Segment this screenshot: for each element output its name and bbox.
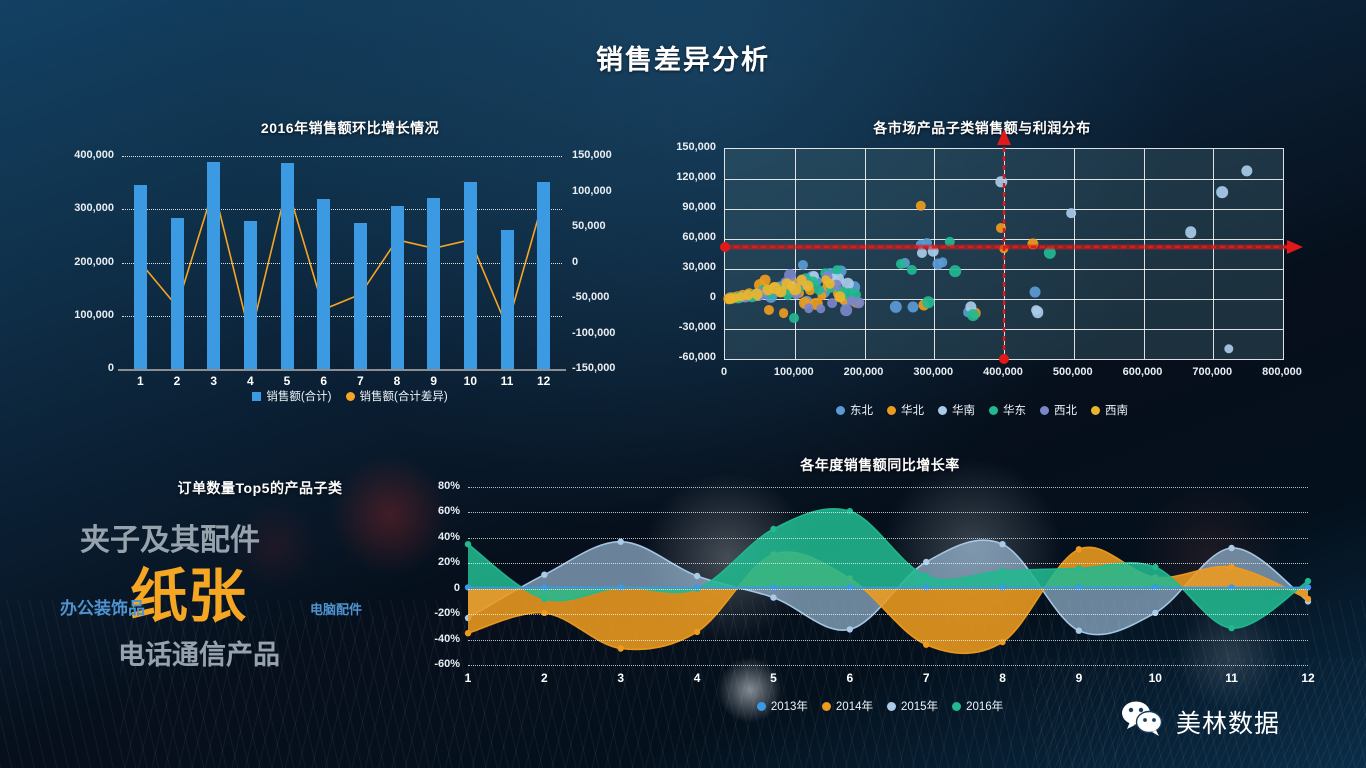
legend-swatch bbox=[887, 702, 896, 711]
wordcloud-word[interactable]: 纸张 bbox=[130, 568, 246, 626]
watermark: 美林数据 bbox=[1120, 700, 1280, 743]
bar-y-left-tick: 400,000 bbox=[60, 149, 114, 161]
bar-y-right-tick: -150,000 bbox=[572, 362, 615, 374]
bar-column[interactable] bbox=[464, 182, 477, 369]
legend-label: 销售额(合计差异) bbox=[360, 388, 448, 404]
bar-y-right-tick: 150,000 bbox=[572, 149, 612, 161]
legend-item[interactable]: 2013年 bbox=[757, 698, 808, 714]
legend-swatch bbox=[822, 702, 831, 711]
scatter-x-tick: 300,000 bbox=[906, 366, 960, 378]
gridline bbox=[468, 640, 1308, 641]
area-x-tick: 7 bbox=[911, 671, 941, 685]
area-y-tick: -20% bbox=[420, 607, 460, 619]
scatter-y-tick: -60,000 bbox=[662, 351, 716, 363]
gridline bbox=[468, 614, 1308, 615]
chart-panel-wordcloud: 订单数量Top5的产品子类 纸张夹子及其配件电话通信产品办公装饰品电脑配件 bbox=[60, 460, 460, 700]
legend-label: 2015年 bbox=[901, 698, 938, 714]
legend-label: 西南 bbox=[1105, 402, 1128, 418]
area-y-tick: 0 bbox=[420, 582, 460, 594]
scatter-y-tick: -30,000 bbox=[662, 321, 716, 333]
bar-x-tick: 4 bbox=[235, 374, 265, 388]
bar-column[interactable] bbox=[537, 182, 550, 369]
bar-y-right-tick: 100,000 bbox=[572, 185, 612, 197]
legend-swatch bbox=[989, 406, 998, 415]
area-x-tick: 8 bbox=[988, 671, 1018, 685]
area-y-tick: 60% bbox=[420, 505, 460, 517]
scatter-y-tick: 120,000 bbox=[662, 171, 716, 183]
area-x-tick: 6 bbox=[835, 671, 865, 685]
legend-item[interactable]: 华东 bbox=[989, 402, 1026, 418]
area-y-tick: -40% bbox=[420, 633, 460, 645]
gridline bbox=[468, 538, 1308, 539]
legend-label: 华北 bbox=[901, 402, 924, 418]
scatter-x-tick: 500,000 bbox=[1046, 366, 1100, 378]
bar-x-tick: 6 bbox=[309, 374, 339, 388]
bar-column[interactable] bbox=[354, 223, 367, 369]
chart-panel-bar: 2016年销售额环比增长情况 123456789101112 销售额(合计)销售… bbox=[60, 118, 640, 418]
bar-column[interactable] bbox=[207, 162, 220, 369]
legend-swatch bbox=[938, 406, 947, 415]
scatter-x-tick: 100,000 bbox=[767, 366, 821, 378]
legend-swatch bbox=[952, 702, 961, 711]
legend-swatch bbox=[757, 702, 766, 711]
legend-item[interactable]: 西北 bbox=[1040, 402, 1077, 418]
legend-item[interactable]: 销售额(合计) bbox=[252, 388, 331, 404]
chart-panel-area: 各年度销售额同比增长率 123456789101112 2013年2014年20… bbox=[420, 455, 1340, 720]
legend-swatch bbox=[1040, 406, 1049, 415]
area-y-tick: 80% bbox=[420, 480, 460, 492]
area-x-tick: 9 bbox=[1064, 671, 1094, 685]
bar-chart-title: 2016年销售额环比增长情况 bbox=[60, 118, 640, 138]
legend-label: 销售额(合计) bbox=[266, 388, 331, 404]
legend-item[interactable]: 西南 bbox=[1091, 402, 1128, 418]
gridline bbox=[122, 156, 562, 157]
bar-y-right-tick: -50,000 bbox=[572, 291, 609, 303]
gridline bbox=[468, 589, 1308, 590]
scatter-x-tick: 200,000 bbox=[837, 366, 891, 378]
scatter-reference-lines bbox=[725, 149, 1283, 359]
area-x-tick: 3 bbox=[606, 671, 636, 685]
scatter-x-tick: 700,000 bbox=[1185, 366, 1239, 378]
bar-column[interactable] bbox=[427, 198, 440, 369]
area-x-tick: 12 bbox=[1293, 671, 1323, 685]
area-x-tick: 1 bbox=[453, 671, 483, 685]
scatter-y-tick: 0 bbox=[662, 291, 716, 303]
scatter-y-tick: 150,000 bbox=[662, 141, 716, 153]
dashboard-root: 销售差异分析 2016年销售额环比增长情况 123456789101112 销售… bbox=[0, 0, 1366, 768]
chart-panel-scatter: 各市场产品子类销售额与利润分布 东北华北华南华东西北西南 -60,000-30,… bbox=[662, 118, 1302, 418]
bar-x-tick: 3 bbox=[199, 374, 229, 388]
scatter-x-tick: 800,000 bbox=[1255, 366, 1309, 378]
area-x-tick: 10 bbox=[1140, 671, 1170, 685]
bar-x-tick: 9 bbox=[419, 374, 449, 388]
bar-x-tick: 10 bbox=[455, 374, 485, 388]
bar-y-right-tick: -100,000 bbox=[572, 327, 615, 339]
area-chart-svg bbox=[468, 487, 1308, 665]
legend-label: 东北 bbox=[850, 402, 873, 418]
bar-column[interactable] bbox=[244, 221, 257, 369]
wordcloud-word[interactable]: 电脑配件 bbox=[310, 603, 362, 616]
bar-x-tick: 11 bbox=[492, 374, 522, 388]
legend-label: 华东 bbox=[1003, 402, 1026, 418]
scatter-y-tick: 60,000 bbox=[662, 231, 716, 243]
legend-item[interactable]: 华北 bbox=[887, 402, 924, 418]
bar-x-tick: 5 bbox=[272, 374, 302, 388]
area-x-tick: 4 bbox=[682, 671, 712, 685]
legend-item[interactable]: 2014年 bbox=[822, 698, 873, 714]
wechat-icon bbox=[1120, 700, 1166, 743]
scatter-x-tick: 600,000 bbox=[1116, 366, 1170, 378]
bar-x-tick: 8 bbox=[382, 374, 412, 388]
page-title: 销售差异分析 bbox=[0, 38, 1366, 77]
area-chart-plot bbox=[468, 487, 1308, 665]
bar-chart-legend: 销售额(合计)销售额(合计差异) bbox=[60, 388, 640, 404]
legend-label: 2014年 bbox=[836, 698, 873, 714]
legend-swatch bbox=[836, 406, 845, 415]
scatter-chart-plot bbox=[724, 148, 1284, 360]
wordcloud-title: 订单数量Top5的产品子类 bbox=[60, 478, 460, 498]
legend-label: 2013年 bbox=[771, 698, 808, 714]
legend-swatch bbox=[887, 406, 896, 415]
legend-item[interactable]: 2016年 bbox=[952, 698, 1003, 714]
area-y-tick: 40% bbox=[420, 531, 460, 543]
legend-label: 西北 bbox=[1054, 402, 1077, 418]
bar-column[interactable] bbox=[171, 218, 184, 369]
gridline bbox=[122, 209, 562, 210]
bar-y-left-tick: 100,000 bbox=[60, 309, 114, 321]
area-x-tick: 2 bbox=[529, 671, 559, 685]
gridline bbox=[468, 665, 1308, 666]
bar-column[interactable] bbox=[134, 185, 147, 369]
bar-y-left-tick: 200,000 bbox=[60, 256, 114, 268]
bar-chart-plot bbox=[122, 156, 562, 369]
watermark-label: 美林数据 bbox=[1176, 704, 1280, 740]
bar-y-right-tick: 0 bbox=[572, 256, 578, 268]
legend-item[interactable]: 华南 bbox=[938, 402, 975, 418]
area-y-tick: -60% bbox=[420, 658, 460, 670]
legend-item[interactable]: 东北 bbox=[836, 402, 873, 418]
legend-item[interactable]: 销售额(合计差异) bbox=[346, 388, 448, 404]
wordcloud-word[interactable]: 办公装饰品 bbox=[60, 600, 145, 617]
bar-x-tick: 1 bbox=[125, 374, 155, 388]
scatter-y-tick: 30,000 bbox=[662, 261, 716, 273]
bar-x-tick: 7 bbox=[345, 374, 375, 388]
gridline bbox=[122, 316, 562, 317]
bar-x-tick: 12 bbox=[529, 374, 559, 388]
scatter-x-tick: 0 bbox=[697, 366, 751, 378]
bar-y-left-tick: 300,000 bbox=[60, 202, 114, 214]
bar-y-left-tick: 0 bbox=[60, 362, 114, 374]
legend-label: 华南 bbox=[952, 402, 975, 418]
scatter-chart-title: 各市场产品子类销售额与利润分布 bbox=[662, 118, 1302, 138]
legend-swatch bbox=[346, 392, 355, 401]
area-x-tick: 11 bbox=[1217, 671, 1247, 685]
bar-column[interactable] bbox=[391, 206, 404, 369]
bar-y-right-tick: 50,000 bbox=[572, 220, 606, 232]
scatter-chart-legend: 东北华北华南华东西北西南 bbox=[662, 402, 1302, 418]
bar-chart-x-axis bbox=[118, 369, 566, 371]
area-chart-title: 各年度销售额同比增长率 bbox=[420, 455, 1340, 475]
legend-item[interactable]: 2015年 bbox=[887, 698, 938, 714]
area-y-tick: 20% bbox=[420, 556, 460, 568]
bar-x-tick: 2 bbox=[162, 374, 192, 388]
legend-swatch bbox=[1091, 406, 1100, 415]
scatter-x-tick: 400,000 bbox=[976, 366, 1030, 378]
wordcloud-word[interactable]: 电话通信产品 bbox=[118, 642, 280, 669]
gridline bbox=[122, 263, 562, 264]
gridline bbox=[468, 487, 1308, 488]
bar-column[interactable] bbox=[317, 199, 330, 369]
scatter-y-tick: 90,000 bbox=[662, 201, 716, 213]
legend-label: 2016年 bbox=[966, 698, 1003, 714]
bar-column[interactable] bbox=[281, 163, 294, 369]
wordcloud-word[interactable]: 夹子及其配件 bbox=[80, 526, 260, 556]
gridline bbox=[468, 563, 1308, 564]
legend-swatch bbox=[252, 392, 261, 401]
gridline bbox=[468, 512, 1308, 513]
area-x-tick: 5 bbox=[758, 671, 788, 685]
bar-column[interactable] bbox=[501, 230, 514, 369]
